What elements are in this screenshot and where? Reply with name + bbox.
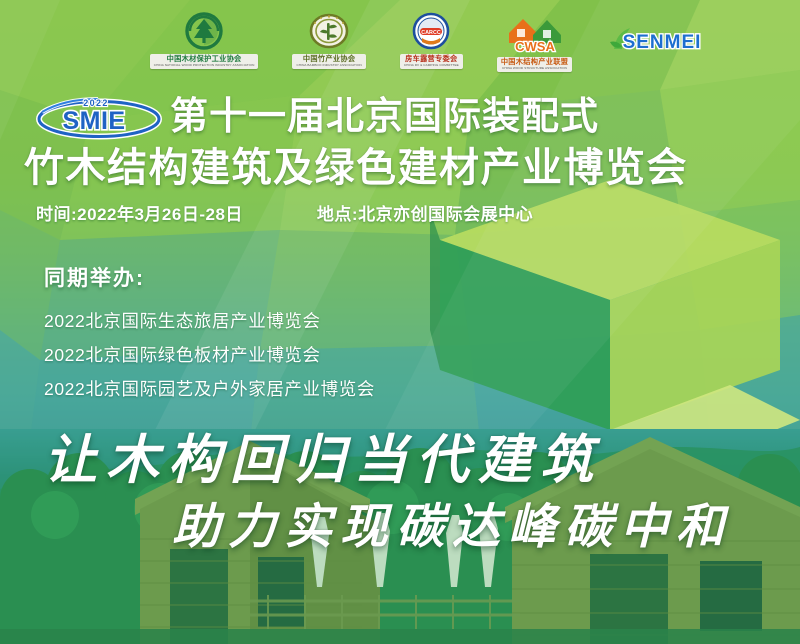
svg-text:CARCC: CARCC [422, 29, 442, 35]
smie-wordmark-text: SMIE [62, 107, 125, 135]
headline-block: 2022 SMIE 第十一届北京国际装配式 竹木结构建筑及绿色建材产业博览会 [0, 92, 800, 192]
logo-caption-cn: 房车露营专委会 [404, 55, 459, 63]
logo-caption-en: CHINA NATIONAL WOOD PROTECTION INDUSTRY … [154, 63, 255, 67]
logo-caption-en: CHINA BAMBOO INDUSTRY ASSOCIATION [296, 63, 361, 67]
logo-caption: 中国木材保护工业协会 CHINA NATIONAL WOOD PROTECTIO… [150, 54, 259, 69]
concurrent-heading: 同期举办: [44, 262, 564, 292]
logo-caption: 中国竹产业协会 CHINA BAMBOO INDUSTRY ASSOCIATIO… [292, 54, 365, 69]
concurrent-event-1: 2022北京国际生态旅居产业博览会 [44, 304, 564, 338]
logo-caption-cn: 中国竹产业协会 [296, 55, 361, 63]
logo-caption: 房车露营专委会 CHINA RV & CAMPING COMMITTEE [400, 54, 463, 69]
house-cwsa-emblem-icon: CWSA [503, 9, 567, 55]
title-line-2: 竹木结构建筑及绿色建材产业博览会 [0, 144, 800, 192]
event-meta: 时间:2022年3月26日-28日 地点:北京亦创国际会展中心 [36, 200, 776, 225]
senmei-leaf-wordmark-icon: SENMEI [606, 23, 710, 57]
logo-senmei[interactable]: SENMEI [606, 23, 710, 57]
logo-caption-en: CHINA RV & CAMPING COMMITTEE [404, 63, 459, 67]
tree-shield-emblem-icon [181, 12, 227, 52]
concurrent-event-3: 2022北京国际园艺及户外家居产业博览会 [44, 372, 564, 406]
slogan-line-2: 助力实现碳达峰碳中和 [172, 487, 732, 557]
logo-cn-wood-protection[interactable]: 中国木材保护工业协会 CHINA NATIONAL WOOD PROTECTIO… [150, 12, 259, 69]
svg-text:CWSA: CWSA [515, 39, 555, 54]
concurrent-events-block: 同期举办: 2022北京国际生态旅居产业博览会 2022北京国际绿色板材产业博览… [44, 262, 564, 406]
logo-bamboo-association[interactable]: 中国竹产业协会 CHINA BAMBOO INDUSTRY ASSOCIATIO… [292, 12, 365, 69]
headline-line-1-row: 2022 SMIE 第十一届北京国际装配式 [0, 92, 800, 142]
logo-cwsa[interactable]: CWSA 中国木结构产业联盟 CHINA WOOD STRUCTURE ASSO… [497, 9, 572, 72]
logo-carcc[interactable]: CARCC 房车露营专委会 CHINA RV & CAMPING COMMITT… [400, 12, 463, 69]
logo-caption-en: CHINA WOOD STRUCTURE ASSOCIATION [501, 66, 568, 70]
carcc-round-emblem-icon: CARCC [409, 12, 453, 52]
sponsor-logo-strip: 中国木材保护工业协会 CHINA NATIONAL WOOD PROTECTIO… [0, 0, 800, 80]
concurrent-event-2: 2022北京国际绿色板材产业博览会 [44, 338, 564, 372]
event-date: 时间:2022年3月26日-28日 [36, 200, 243, 225]
slogan-line-1: 让木构回归当代建筑 [44, 418, 602, 494]
smie-brand-logo: 2022 SMIE [34, 94, 164, 140]
logo-caption-cn: 中国木材保护工业协会 [154, 55, 255, 63]
event-venue: 地点:北京亦创国际会展中心 [317, 200, 533, 225]
logo-caption-cn: 中国木结构产业联盟 [501, 58, 568, 66]
logo-caption: 中国木结构产业联盟 CHINA WOOD STRUCTURE ASSOCIATI… [497, 57, 572, 72]
bamboo-oval-emblem-icon [307, 12, 351, 52]
senmei-wordmark-text: SENMEI [623, 32, 702, 53]
expo-poster: 中国木材保护工业协会 CHINA NATIONAL WOOD PROTECTIO… [0, 0, 800, 644]
title-line-1: 第十一届北京国际装配式 [170, 95, 599, 139]
